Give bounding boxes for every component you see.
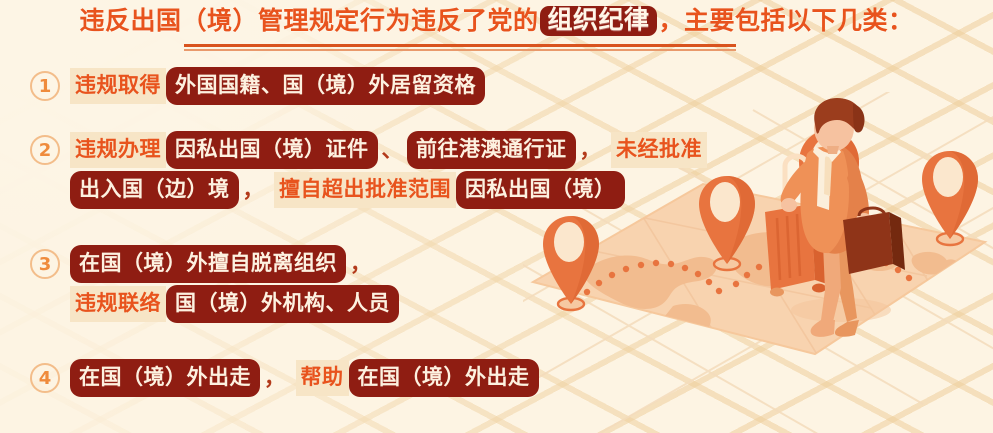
list-item-line: 1违规取得外国国籍、国（境）外居留资格 [0,66,485,106]
violation-list: 1违规取得外国国籍、国（境）外居留资格2违规办理因私出国（境）证件、前往港澳通行… [0,66,700,406]
list-item-number-3: 3 [30,249,60,279]
title-block: 违反出国（境）管理规定行为违反了党的组织纪律，主要包括以下几类： [0,4,993,38]
text-segment-pill: 因私出国（境） [456,171,625,209]
list-item-line: 2违规办理因私出国（境）证件、前往港澳通行证，未经批准 [0,130,707,170]
text-segment-pill: 因私出国（境）证件 [166,131,378,169]
title-underline-thin [184,49,736,51]
list-item: 2违规办理因私出国（境）证件、前往港澳通行证，未经批准2出入国（边）境，擅自超出… [0,130,707,210]
text-segment-highlight: 违规联络 [70,286,166,322]
map-pin-3 [799,130,859,238]
text-segment-punctuation: ， [346,249,376,279]
map-pin-4 [922,151,978,245]
title-before-text: 违反出国（境）管理规定行为违反了党的 [79,6,538,35]
title-underline-thick [184,44,736,47]
text-segment-highlight: 违规办理 [70,132,166,168]
text-segment-highlight: 违规取得 [70,68,166,104]
text-segment-pill: 前往港澳通行证 [407,131,576,169]
map-pin-2 [699,176,755,270]
text-segment-highlight: 帮助 [296,360,349,396]
text-segment-punctuation: ， [576,135,612,165]
title-after-text: ，主要包括以下几类： [659,6,914,35]
text-segment-pill: 在国（境）外出走 [349,359,539,397]
text-segment-punctuation: ， [239,175,275,205]
list-item-number-1: 1 [30,71,60,101]
list-item-number-2: 2 [30,135,60,165]
text-segment-punctuation: ， [260,363,296,393]
page-title: 违反出国（境）管理规定行为违反了党的组织纪律，主要包括以下几类： [79,4,913,38]
list-item: 1违规取得外国国籍、国（境）外居留资格 [0,66,485,106]
title-underline [184,44,736,50]
list-item-line: 3在国（境）外擅自脱离组织， [0,244,399,284]
text-segment-pill: 国（境）外机构、人员 [166,285,399,323]
list-item-line: 4在国（境）外出走，帮助在国（境）外出走 [0,358,539,398]
list-item-number-4: 4 [30,363,60,393]
list-item-line: 3违规联络国（境）外机构、人员 [0,284,399,324]
title-emphasis-badge: 组织纪律 [540,6,656,36]
text-segment-highlight: 未经批准 [611,132,707,168]
poster-root: 违反出国（境）管理规定行为违反了党的组织纪律，主要包括以下几类： 1违规取得外国… [0,0,993,433]
text-segment-pill: 外国国籍、国（境）外居留资格 [166,67,485,105]
list-item-line: 2出入国（边）境，擅自超出批准范围因私出国（境） [0,170,707,210]
text-segment-highlight: 擅自超出批准范围 [274,172,456,208]
text-segment-pill: 出入国（边）境 [70,171,239,209]
list-item: 3在国（境）外擅自脱离组织，3违规联络国（境）外机构、人员 [0,244,399,324]
list-item: 4在国（境）外出走，帮助在国（境）外出走 [0,358,539,398]
traveler-figure [765,98,905,337]
text-segment-pill: 在国（境）外擅自脱离组织 [70,245,346,283]
text-segment-pill: 在国（境）外出走 [70,359,260,397]
text-segment-punctuation: 、 [378,135,408,165]
